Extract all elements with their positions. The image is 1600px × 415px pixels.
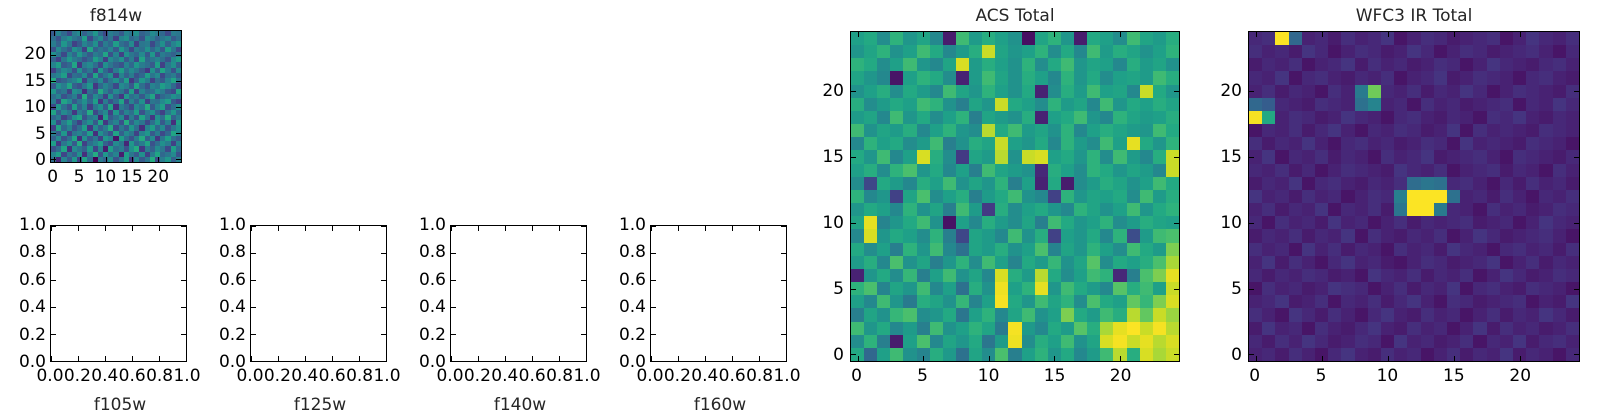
- x-tick-mark-top: [359, 226, 360, 231]
- x-tick-mark: [559, 356, 560, 361]
- x-tick-label: 20: [1110, 366, 1132, 386]
- x-tick-mark: [505, 356, 506, 361]
- y-tick-mark-right: [381, 253, 386, 254]
- y-tick-mark-right: [1574, 91, 1579, 92]
- x-tick-mark-top: [732, 226, 733, 231]
- y-tick-mark-right: [381, 307, 386, 308]
- x-axis-labels-acs-total: 05101520: [850, 366, 1180, 392]
- y-tick-mark-right: [581, 307, 586, 308]
- y-tick-mark: [451, 280, 456, 281]
- x-tick-mark-top: [1256, 32, 1257, 37]
- x-tick-mark-top: [106, 31, 107, 36]
- x-tick-mark: [1322, 356, 1323, 361]
- y-tick-mark: [451, 334, 456, 335]
- x-tick-mark: [159, 356, 160, 361]
- y-tick-mark: [651, 226, 656, 227]
- y-tick-label: 0.4: [219, 297, 246, 317]
- y-tick-mark-right: [1574, 157, 1579, 158]
- y-tick-mark-right: [1174, 223, 1179, 224]
- x-tick-mark: [678, 356, 679, 361]
- heatmap-acs-total: [851, 32, 1179, 361]
- y-tick-mark-right: [1574, 354, 1579, 355]
- axes-f160w[interactable]: [650, 225, 787, 362]
- x-tick-label: 15: [121, 167, 143, 187]
- y-tick-mark-right: [581, 226, 586, 227]
- x-tick-label: 20: [1509, 366, 1531, 386]
- y-tick-mark-right: [781, 253, 786, 254]
- x-tick-mark-top: [858, 32, 859, 37]
- x-tick-mark: [732, 356, 733, 361]
- panel-wfc3-ir-total: WFC3 IR Total 05101520 05101520: [1200, 0, 1600, 400]
- y-tick-mark-right: [1174, 354, 1179, 355]
- y-tick-mark-right: [381, 361, 386, 362]
- x-tick-mark-top: [759, 226, 760, 231]
- y-tick-mark-right: [1574, 289, 1579, 290]
- x-tick-mark: [923, 356, 924, 361]
- x-tick-mark-top: [132, 226, 133, 231]
- x-tick-mark: [989, 356, 990, 361]
- x-tick-mark-top: [923, 32, 924, 37]
- x-tick-mark-top: [559, 226, 560, 231]
- y-tick-label: 0: [35, 150, 46, 170]
- y-axis-labels-acs-total: 05101520: [800, 31, 844, 362]
- y-tick-label: 5: [833, 279, 844, 299]
- y-tick-mark-right: [176, 81, 181, 82]
- x-tick-mark: [278, 356, 279, 361]
- x-tick-mark: [759, 356, 760, 361]
- y-tick-mark: [51, 133, 56, 134]
- x-tick-label: 0.2: [664, 366, 691, 386]
- x-tick-label: 1.0: [573, 366, 600, 386]
- y-tick-mark-right: [781, 361, 786, 362]
- y-tick-mark: [51, 334, 56, 335]
- x-tick-mark: [1520, 356, 1521, 361]
- x-tick-label: 0: [1249, 366, 1260, 386]
- y-tick-label: 0.2: [419, 325, 446, 345]
- x-tick-mark: [858, 356, 859, 361]
- x-tick-label: 0: [47, 167, 58, 187]
- axes-f140w[interactable]: [450, 225, 587, 362]
- y-tick-label: 20: [822, 81, 844, 101]
- x-tick-label: 1.0: [173, 366, 200, 386]
- x-tick-label: 10: [978, 366, 1000, 386]
- y-tick-label: 1.0: [19, 215, 46, 235]
- y-tick-mark: [651, 280, 656, 281]
- x-tick-label: 15: [1044, 366, 1066, 386]
- y-tick-label: 10: [1220, 213, 1242, 233]
- y-tick-mark-right: [181, 361, 186, 362]
- x-tick-label: 0.6: [119, 366, 146, 386]
- panel-title-acs-total: ACS Total: [850, 6, 1180, 26]
- x-tick-label: 0.8: [146, 366, 173, 386]
- panel-f160w: f160w 0.00.20.40.60.81.0 0.00.20.40.60.8…: [600, 195, 800, 400]
- x-tick-mark-top: [158, 31, 159, 36]
- x-tick-mark-top: [586, 226, 587, 231]
- x-tick-mark: [586, 356, 587, 361]
- y-tick-mark: [451, 253, 456, 254]
- x-tick-mark-top: [305, 226, 306, 231]
- y-tick-label: 10: [24, 97, 46, 117]
- x-tick-mark: [359, 356, 360, 361]
- x-tick-mark: [478, 356, 479, 361]
- y-tick-mark-right: [581, 280, 586, 281]
- x-tick-mark-top: [54, 31, 55, 36]
- x-tick-label: 0.0: [236, 366, 263, 386]
- x-tick-mark: [105, 356, 106, 361]
- y-tick-mark-right: [581, 253, 586, 254]
- y-tick-label: 5: [1231, 279, 1242, 299]
- x-tick-mark-top: [678, 226, 679, 231]
- x-tick-mark-top: [1322, 32, 1323, 37]
- y-axis-labels-wfc3-ir-total: 05101520: [1200, 31, 1242, 362]
- x-tick-label: 0.4: [691, 366, 718, 386]
- x-tick-mark: [305, 356, 306, 361]
- y-tick-label: 0.4: [619, 297, 646, 317]
- x-tick-label: 0.6: [719, 366, 746, 386]
- x-tick-mark-top: [989, 32, 990, 37]
- y-tick-mark: [451, 226, 456, 227]
- axes-wfc3-ir-total[interactable]: [1248, 31, 1580, 362]
- x-tick-mark: [386, 356, 387, 361]
- y-tick-mark-right: [176, 55, 181, 56]
- x-tick-mark-top: [132, 31, 133, 36]
- panel-f125w: f125w 0.00.20.40.60.81.0 0.00.20.40.60.8…: [200, 195, 400, 400]
- y-tick-mark: [451, 307, 456, 308]
- y-tick-label: 15: [1220, 147, 1242, 167]
- y-tick-label: 1.0: [219, 215, 246, 235]
- panel-title-wfc3-ir-total: WFC3 IR Total: [1248, 6, 1580, 26]
- y-axis-labels-f140w: 0.00.20.40.60.81.0: [400, 225, 446, 362]
- heatmap-f814w: [51, 31, 181, 162]
- x-tick-mark-top: [186, 226, 187, 231]
- x-tick-mark-top: [1454, 32, 1455, 37]
- y-tick-mark-right: [781, 226, 786, 227]
- x-tick-mark: [786, 356, 787, 361]
- x-tick-mark-top: [705, 226, 706, 231]
- x-tick-label: 0.2: [64, 366, 91, 386]
- x-tick-label: 0.0: [636, 366, 663, 386]
- x-tick-label: 0.4: [91, 366, 118, 386]
- x-tick-label: 0: [851, 366, 862, 386]
- y-tick-mark: [51, 55, 56, 56]
- axes-acs-total[interactable]: [850, 31, 1180, 362]
- x-tick-label: 0.6: [319, 366, 346, 386]
- y-tick-mark-right: [381, 280, 386, 281]
- x-tick-mark-top: [105, 226, 106, 231]
- x-tick-label: 1.0: [373, 366, 400, 386]
- y-tick-label: 15: [822, 147, 844, 167]
- x-tick-label: 0.0: [36, 366, 63, 386]
- y-tick-label: 0.8: [619, 242, 646, 262]
- x-tick-mark: [132, 157, 133, 162]
- y-axis-labels-f160w: 0.00.20.40.60.81.0: [600, 225, 646, 362]
- x-axis-labels-f125w: 0.00.20.40.60.81.0: [250, 366, 387, 390]
- y-tick-mark-right: [781, 307, 786, 308]
- y-tick-mark-right: [181, 226, 186, 227]
- y-tick-mark-right: [581, 334, 586, 335]
- x-tick-mark: [332, 356, 333, 361]
- x-tick-mark: [106, 157, 107, 162]
- x-tick-mark: [132, 356, 133, 361]
- x-tick-label: 0.8: [346, 366, 373, 386]
- x-tick-mark-top: [1520, 32, 1521, 37]
- x-tick-mark: [158, 157, 159, 162]
- y-tick-mark-right: [176, 133, 181, 134]
- x-tick-mark: [705, 356, 706, 361]
- y-tick-label: 0.6: [419, 270, 446, 290]
- y-tick-mark: [851, 289, 856, 290]
- x-tick-mark-top: [78, 226, 79, 231]
- y-tick-mark: [851, 157, 856, 158]
- x-tick-label: 5: [1316, 366, 1327, 386]
- x-tick-mark-top: [1054, 32, 1055, 37]
- y-tick-mark: [851, 223, 856, 224]
- y-tick-mark-right: [581, 361, 586, 362]
- y-tick-mark-right: [1174, 91, 1179, 92]
- x-tick-label: 5: [74, 167, 85, 187]
- y-tick-mark: [1249, 91, 1254, 92]
- y-tick-label: 5: [35, 124, 46, 144]
- y-tick-mark-right: [181, 280, 186, 281]
- panel-f105w: f105w 0.00.20.40.60.81.0 0.00.20.40.60.8…: [0, 195, 200, 400]
- y-tick-mark: [1249, 223, 1254, 224]
- y-tick-label: 1.0: [619, 215, 646, 235]
- y-tick-label: 0: [833, 345, 844, 365]
- y-axis-labels-f105w: 0.00.20.40.60.81.0: [0, 225, 46, 362]
- x-tick-mark-top: [278, 226, 279, 231]
- x-axis-labels-f814w: 05101520: [50, 167, 182, 191]
- y-tick-label: 0.4: [19, 297, 46, 317]
- x-tick-label: 0.2: [264, 366, 291, 386]
- x-tick-mark-top: [1388, 32, 1389, 37]
- x-tick-mark-top: [532, 226, 533, 231]
- y-tick-mark-right: [176, 159, 181, 160]
- panel-acs-total: ACS Total 05101520 05101520: [800, 0, 1200, 400]
- y-tick-mark: [251, 307, 256, 308]
- panel-f140w: f140w 0.00.20.40.60.81.0 0.00.20.40.60.8…: [400, 195, 600, 400]
- y-tick-mark: [51, 361, 56, 362]
- y-tick-mark: [51, 107, 56, 108]
- y-tick-label: 0.2: [219, 325, 246, 345]
- x-tick-label: 15: [1443, 366, 1465, 386]
- x-tick-mark-top: [505, 226, 506, 231]
- axes-f105w[interactable]: [50, 225, 187, 362]
- y-tick-mark-right: [381, 334, 386, 335]
- x-tick-mark: [1388, 356, 1389, 361]
- x-tick-mark: [532, 356, 533, 361]
- x-axis-labels-wfc3-ir-total: 05101520: [1248, 366, 1580, 392]
- y-tick-label: 0.6: [219, 270, 246, 290]
- y-tick-mark-right: [381, 226, 386, 227]
- y-tick-label: 1.0: [419, 215, 446, 235]
- y-tick-mark: [651, 307, 656, 308]
- y-tick-mark: [651, 361, 656, 362]
- x-tick-label: 0.6: [519, 366, 546, 386]
- x-tick-mark-top: [80, 31, 81, 36]
- y-tick-mark: [251, 253, 256, 254]
- y-tick-label: 15: [24, 71, 46, 91]
- y-tick-mark: [451, 361, 456, 362]
- x-tick-mark: [1454, 356, 1455, 361]
- x-tick-label: 20: [147, 167, 169, 187]
- y-tick-label: 0.8: [19, 242, 46, 262]
- y-tick-mark: [651, 334, 656, 335]
- y-tick-label: 0.8: [419, 242, 446, 262]
- y-tick-mark: [51, 253, 56, 254]
- panel-title-f814w: f814w: [0, 6, 232, 26]
- y-tick-mark: [1249, 157, 1254, 158]
- y-tick-mark-right: [181, 334, 186, 335]
- y-tick-label: 0.6: [619, 270, 646, 290]
- heatmap-wfc3-ir-total: [1249, 32, 1579, 361]
- y-tick-label: 20: [1220, 81, 1242, 101]
- y-tick-mark: [51, 159, 56, 160]
- y-tick-mark: [251, 361, 256, 362]
- y-tick-mark: [1249, 354, 1254, 355]
- y-tick-label: 0.6: [19, 270, 46, 290]
- y-tick-mark: [51, 280, 56, 281]
- y-axis-labels-f814w: 05101520: [0, 30, 46, 163]
- y-tick-label: 0.8: [219, 242, 246, 262]
- y-tick-label: 0.2: [619, 325, 646, 345]
- x-tick-mark-top: [332, 226, 333, 231]
- y-tick-mark-right: [181, 307, 186, 308]
- x-tick-label: 0.0: [436, 366, 463, 386]
- x-tick-mark: [186, 356, 187, 361]
- y-tick-mark: [51, 307, 56, 308]
- y-tick-mark-right: [781, 334, 786, 335]
- x-tick-mark-top: [786, 226, 787, 231]
- x-tick-label: 0.2: [464, 366, 491, 386]
- x-tick-mark: [80, 157, 81, 162]
- y-axis-labels-f125w: 0.00.20.40.60.81.0: [200, 225, 246, 362]
- x-axis-labels-f140w: 0.00.20.40.60.81.0: [450, 366, 587, 390]
- y-tick-mark: [51, 226, 56, 227]
- y-tick-mark-right: [781, 280, 786, 281]
- x-axis-labels-f160w: 0.00.20.40.60.81.0: [650, 366, 787, 390]
- x-axis-labels-f105w: 0.00.20.40.60.81.0: [50, 366, 187, 390]
- y-tick-label: 0.2: [19, 325, 46, 345]
- y-tick-mark: [251, 226, 256, 227]
- y-tick-label: 20: [24, 44, 46, 64]
- axes-f814w[interactable]: [50, 30, 182, 163]
- y-tick-mark-right: [176, 107, 181, 108]
- y-tick-mark: [51, 81, 56, 82]
- y-tick-mark: [251, 334, 256, 335]
- y-tick-label: 0: [1231, 345, 1242, 365]
- x-tick-mark: [78, 356, 79, 361]
- x-tick-mark-top: [159, 226, 160, 231]
- y-tick-mark: [251, 280, 256, 281]
- x-tick-mark-top: [478, 226, 479, 231]
- panel-f814w: f814w 05101520 05101520: [0, 0, 200, 195]
- y-tick-mark-right: [1574, 223, 1579, 224]
- y-tick-mark: [851, 91, 856, 92]
- x-tick-label: 10: [95, 167, 117, 187]
- y-tick-label: 10: [822, 213, 844, 233]
- x-tick-label: 10: [1377, 366, 1399, 386]
- y-tick-mark-right: [181, 253, 186, 254]
- x-tick-label: 5: [917, 366, 928, 386]
- x-tick-mark: [1054, 356, 1055, 361]
- x-tick-mark-top: [1120, 32, 1121, 37]
- y-tick-mark: [851, 354, 856, 355]
- axes-f125w[interactable]: [250, 225, 387, 362]
- x-tick-label: 0.4: [291, 366, 318, 386]
- x-tick-label: 0.8: [746, 366, 773, 386]
- x-tick-label: 0.4: [491, 366, 518, 386]
- y-tick-mark-right: [1174, 157, 1179, 158]
- y-tick-mark: [651, 253, 656, 254]
- y-tick-mark: [1249, 289, 1254, 290]
- y-tick-label: 0.4: [419, 297, 446, 317]
- x-tick-mark-top: [386, 226, 387, 231]
- x-tick-label: 1.0: [773, 366, 800, 386]
- x-tick-label: 0.8: [546, 366, 573, 386]
- x-tick-mark: [1120, 356, 1121, 361]
- y-tick-mark-right: [1174, 289, 1179, 290]
- x-tick-mark: [1256, 356, 1257, 361]
